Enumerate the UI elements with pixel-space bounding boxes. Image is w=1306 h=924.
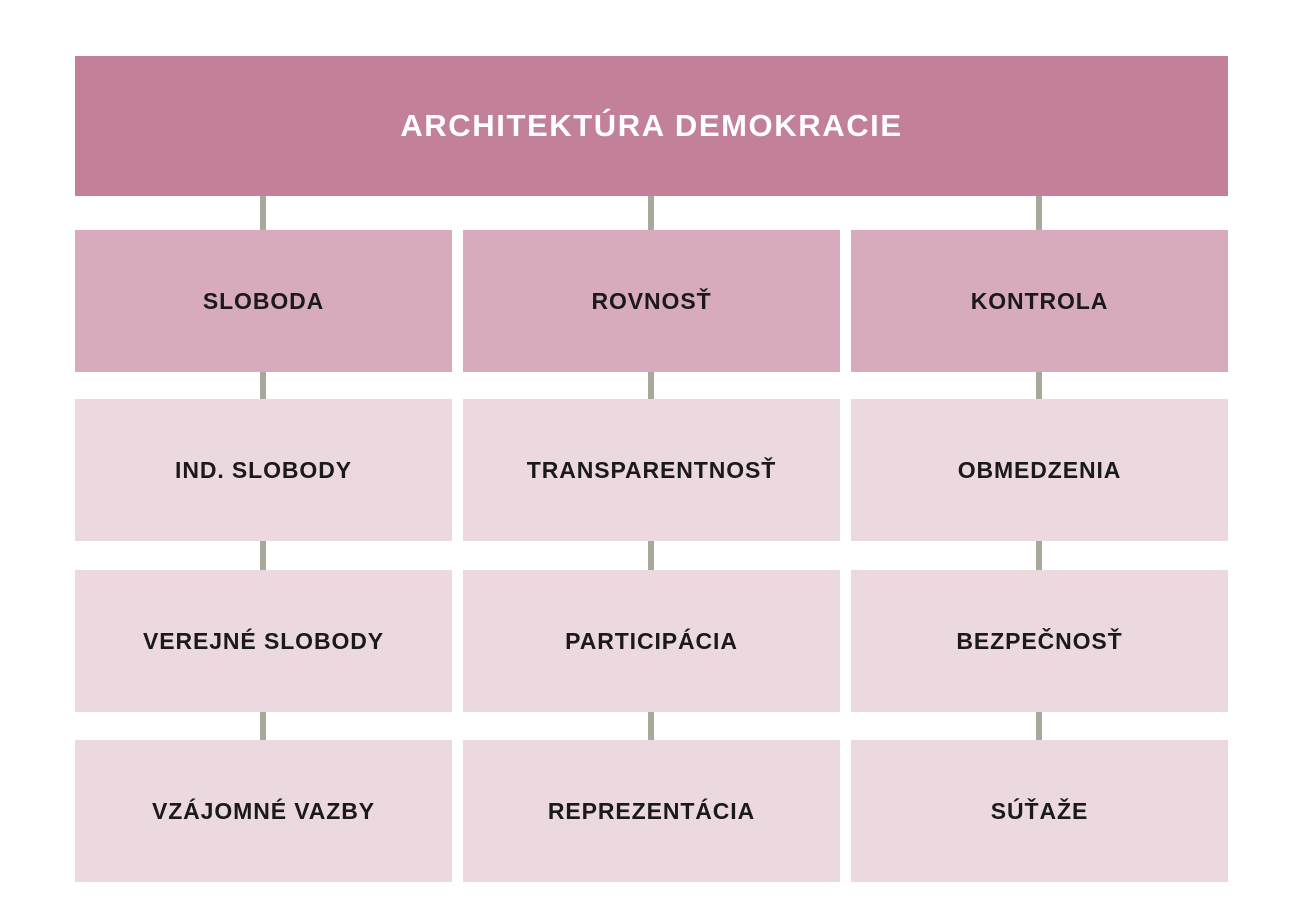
node-column-1-row-2[interactable]: IND. SLOBODY bbox=[75, 399, 452, 541]
node-label: SLOBODA bbox=[203, 288, 324, 314]
connector-header-to-column-2 bbox=[648, 196, 654, 230]
node-label: OBMEDZENIA bbox=[958, 457, 1122, 483]
node-label: BEZPEČNOSŤ bbox=[956, 628, 1122, 654]
node-label: TRANSPARENTNOSŤ bbox=[527, 457, 776, 483]
node-column-3-row-1[interactable]: KONTROLA bbox=[851, 230, 1228, 372]
node-column-1-row-1[interactable]: SLOBODA bbox=[75, 230, 452, 372]
node-column-1-row-4[interactable]: VZÁJOMNÉ VAZBY bbox=[75, 740, 452, 882]
connector-column-1-row-3-to-row-4 bbox=[260, 712, 266, 740]
connector-column-3-row-1-to-row-2 bbox=[1036, 372, 1042, 399]
node-column-3-row-2[interactable]: OBMEDZENIA bbox=[851, 399, 1228, 541]
node-column-2-row-1[interactable]: ROVNOSŤ bbox=[463, 230, 840, 372]
node-column-2-row-3[interactable]: PARTICIPÁCIA bbox=[463, 570, 840, 712]
diagram-columns: SLOBODA IND. SLOBODY VEREJNÉ SLOBODY VZÁ… bbox=[75, 230, 1228, 882]
diagram-title: ARCHITEKTÚRA DEMOKRACIE bbox=[400, 109, 902, 143]
diagram-header-node[interactable]: ARCHITEKTÚRA DEMOKRACIE bbox=[75, 56, 1228, 196]
node-label: VEREJNÉ SLOBODY bbox=[143, 628, 384, 654]
connector-column-3-row-3-to-row-4 bbox=[1036, 712, 1042, 740]
node-column-3-row-3[interactable]: BEZPEČNOSŤ bbox=[851, 570, 1228, 712]
node-column-2-row-4[interactable]: REPREZENTÁCIA bbox=[463, 740, 840, 882]
connector-column-2-row-3-to-row-4 bbox=[648, 712, 654, 740]
node-label: REPREZENTÁCIA bbox=[548, 798, 755, 824]
diagram-column-3: KONTROLA OBMEDZENIA BEZPEČNOSŤ SÚŤAŽE bbox=[851, 230, 1228, 882]
diagram-column-1: SLOBODA IND. SLOBODY VEREJNÉ SLOBODY VZÁ… bbox=[75, 230, 452, 882]
connector-column-2-row-1-to-row-2 bbox=[648, 372, 654, 399]
connector-column-1-row-1-to-row-2 bbox=[260, 372, 266, 399]
node-label: KONTROLA bbox=[971, 288, 1109, 314]
node-column-3-row-4[interactable]: SÚŤAŽE bbox=[851, 740, 1228, 882]
diagram-column-2: ROVNOSŤ TRANSPARENTNOSŤ PARTICIPÁCIA REP… bbox=[463, 230, 840, 882]
connector-column-2-row-2-to-row-3 bbox=[648, 541, 654, 570]
connector-header-to-column-1 bbox=[260, 196, 266, 230]
node-label: PARTICIPÁCIA bbox=[565, 628, 738, 654]
node-label: ROVNOSŤ bbox=[591, 288, 711, 314]
architecture-diagram: ARCHITEKTÚRA DEMOKRACIE SLOBODA IND. SLO… bbox=[0, 0, 1306, 924]
node-label: VZÁJOMNÉ VAZBY bbox=[152, 798, 375, 824]
node-column-1-row-3[interactable]: VEREJNÉ SLOBODY bbox=[75, 570, 452, 712]
node-column-2-row-2[interactable]: TRANSPARENTNOSŤ bbox=[463, 399, 840, 541]
node-label: SÚŤAŽE bbox=[991, 798, 1088, 824]
connector-header-to-column-3 bbox=[1036, 196, 1042, 230]
connector-column-3-row-2-to-row-3 bbox=[1036, 541, 1042, 570]
connector-column-1-row-2-to-row-3 bbox=[260, 541, 266, 570]
node-label: IND. SLOBODY bbox=[175, 457, 352, 483]
